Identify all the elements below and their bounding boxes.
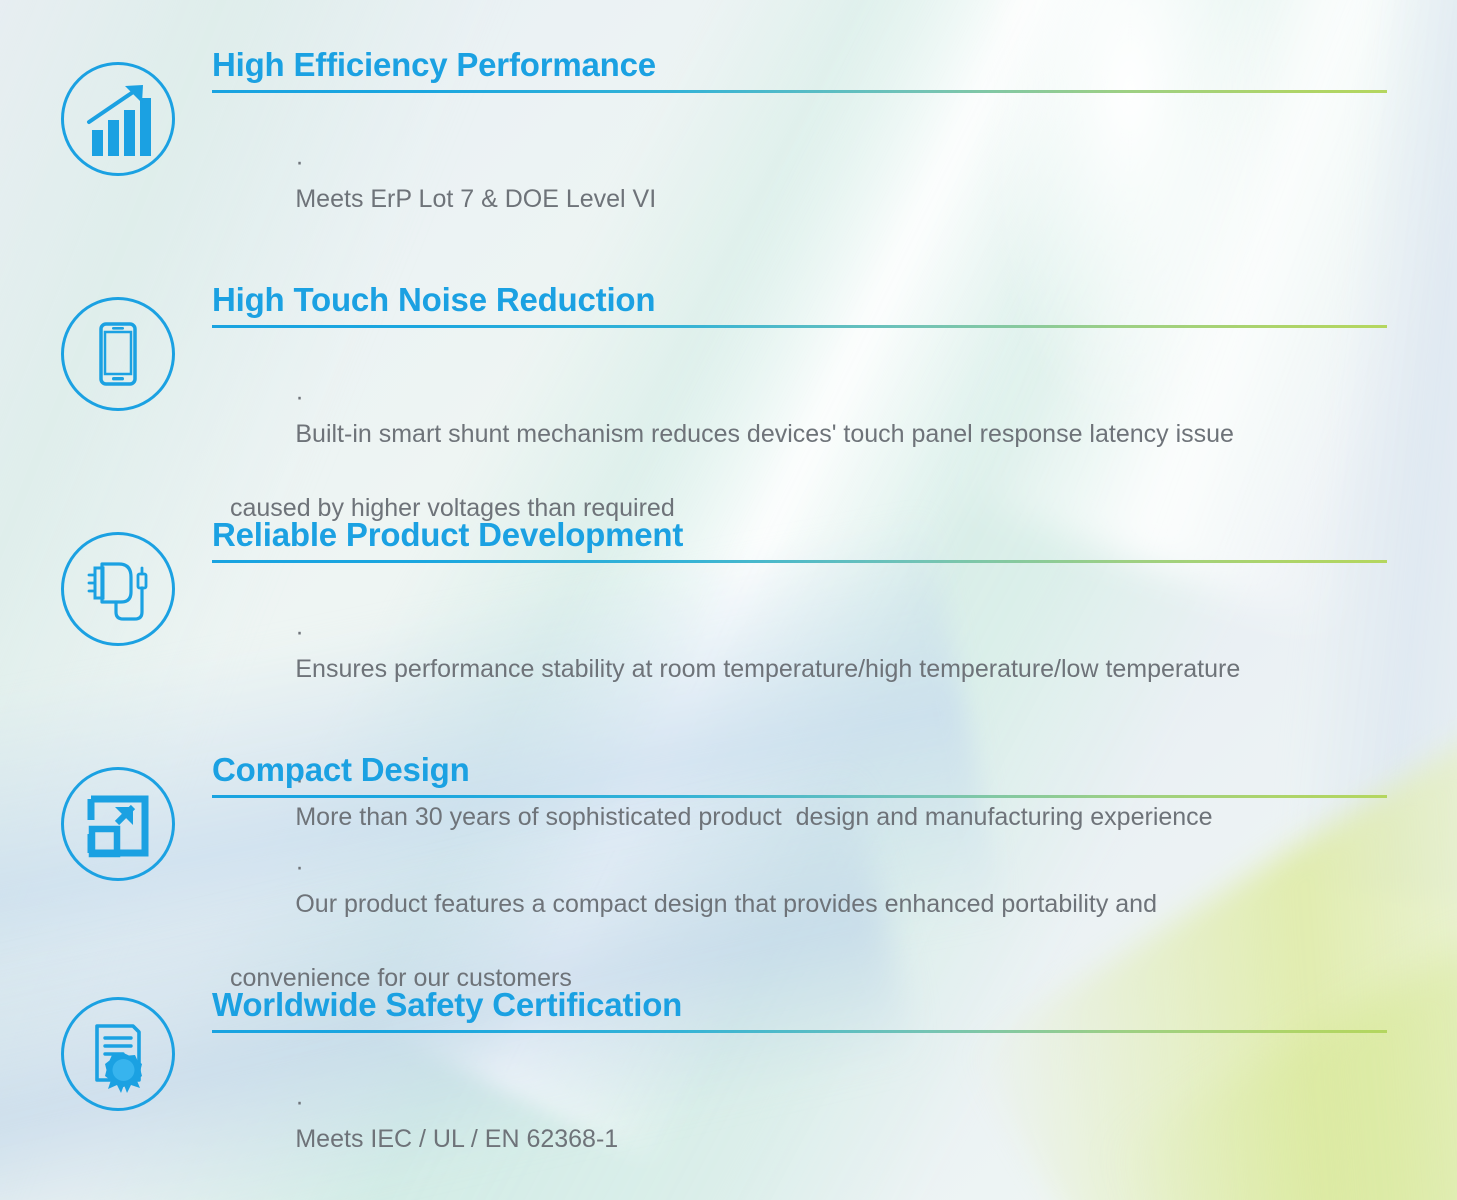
smartphone-icon [59, 295, 177, 413]
bullet-line: · Meets ErP Lot 7 & DOE Level VI [212, 107, 1387, 255]
bullet-text: Our product features a compact design th… [295, 890, 1157, 918]
bullet-marker: · [295, 853, 303, 881]
bullet-marker: · [295, 1088, 303, 1116]
bullet-marker: · [295, 383, 303, 411]
bar-chart-growth-icon [59, 60, 177, 178]
feature-bullets: · Meets IEC / UL / EN 62368-1 [212, 1047, 1387, 1195]
feature-body-2: High Touch Noise Reduction · Built-in sm… [212, 283, 1387, 527]
feature-bullets: · Meets ErP Lot 7 & DOE Level VI [212, 107, 1387, 255]
feature-title: High Touch Noise Reduction [212, 283, 1387, 318]
feature-body-5: Worldwide Safety Certification · Meets I… [212, 988, 1387, 1195]
power-adapter-icon [59, 530, 177, 648]
feature-body-1: High Efficiency Performance · Meets ErP … [212, 48, 1387, 255]
feature-bullets: · Built-in smart shunt mechanism reduces… [212, 342, 1387, 527]
compact-shrink-icon [59, 765, 177, 883]
feature-divider [212, 90, 1387, 93]
feature-title: Reliable Product Development [212, 518, 1387, 553]
bullet-line: · Our product features a compact design … [212, 812, 1387, 960]
feature-divider [212, 1030, 1387, 1033]
feature-list: High Efficiency Performance · Meets ErP … [0, 0, 1457, 1200]
feature-divider [212, 560, 1387, 563]
certificate-seal-icon [59, 995, 177, 1113]
feature-title: High Efficiency Performance [212, 48, 1387, 83]
bullet-marker: · [295, 148, 303, 176]
feature-divider [212, 795, 1387, 798]
feature-list-page: High Efficiency Performance · Meets ErP … [0, 0, 1457, 1200]
feature-title: Worldwide Safety Certification [212, 988, 1387, 1023]
feature-divider [212, 325, 1387, 328]
feature-title: Compact Design [212, 753, 1387, 788]
bullet-text: Meets IEC / UL / EN 62368-1 [295, 1125, 618, 1153]
bullet-marker: · [295, 618, 303, 646]
bullet-text: Ensures performance stability at room te… [295, 655, 1240, 683]
feature-body-4: Compact Design · Our product features a … [212, 753, 1387, 997]
bullet-line: · Ensures performance stability at room … [212, 577, 1387, 725]
bullet-line: · Built-in smart shunt mechanism reduces… [212, 342, 1387, 490]
bullet-text: Built-in smart shunt mechanism reduces d… [295, 420, 1234, 448]
bullet-text: Meets ErP Lot 7 & DOE Level VI [295, 185, 656, 213]
feature-bullets: · Our product features a compact design … [212, 812, 1387, 997]
bullet-line: · Meets IEC / UL / EN 62368-1 [212, 1047, 1387, 1195]
